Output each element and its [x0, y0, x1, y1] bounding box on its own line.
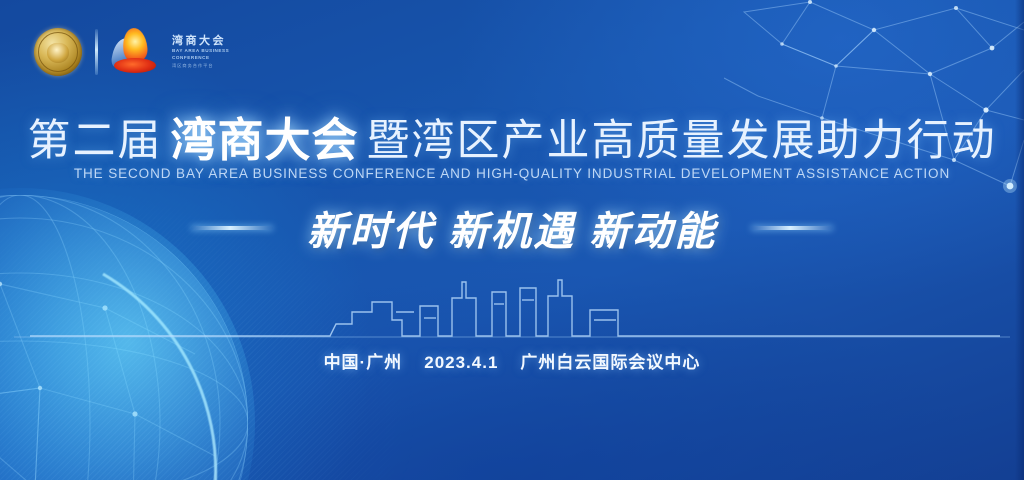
- vertical-divider-icon: [95, 29, 98, 75]
- conference-banner: 湾商大会 BAY AREA BUSINESS CONFERENCE 湾区商务合作…: [0, 0, 1024, 480]
- title-suffix: 暨湾区产业高质量发展助力行动: [367, 117, 997, 165]
- footer-venue: 广州白云国际会议中心: [520, 348, 700, 373]
- logo-english-line1: BAY AREA BUSINESS: [172, 48, 229, 54]
- mascot-base: [114, 58, 156, 73]
- slogan-text: 新时代 新机遇 新动能: [307, 199, 717, 257]
- logo-chinese-name: 湾商大会: [172, 35, 229, 47]
- flame-mascot-icon: [111, 28, 157, 76]
- footer-info: 中国·广州2023.4.1广州白云国际会议中心: [0, 348, 1024, 373]
- city-skyline-icon: [0, 276, 1024, 342]
- title-highlight: 湾商大会: [171, 114, 359, 166]
- footer-location: 中国·广州: [324, 348, 403, 373]
- footer-date: 2023.4.1: [424, 353, 498, 373]
- logo-bar: 湾商大会 BAY AREA BUSINESS CONFERENCE 湾区商务合作…: [34, 22, 229, 82]
- page-title: 第二届湾商大会暨湾区产业高质量发展助力行动: [0, 104, 1024, 170]
- skyline-art: [0, 276, 1024, 342]
- title-prefix: 第二届: [28, 117, 163, 165]
- logo-text-block: 湾商大会 BAY AREA BUSINESS CONFERENCE 湾区商务合作…: [172, 35, 229, 69]
- decorative-dash-icon-right: [751, 226, 833, 230]
- slogan-row: 新时代 新机遇 新动能: [0, 199, 1024, 257]
- government-emblem-icon: [34, 28, 82, 76]
- title-english-subtitle: THE SECOND BAY AREA BUSINESS CONFERENCE …: [0, 166, 1024, 181]
- logo-english-line2: CONFERENCE: [172, 55, 229, 61]
- logo-subtitle: 湾区商务合作平台: [172, 63, 229, 69]
- decorative-dash-icon-left: [191, 226, 273, 230]
